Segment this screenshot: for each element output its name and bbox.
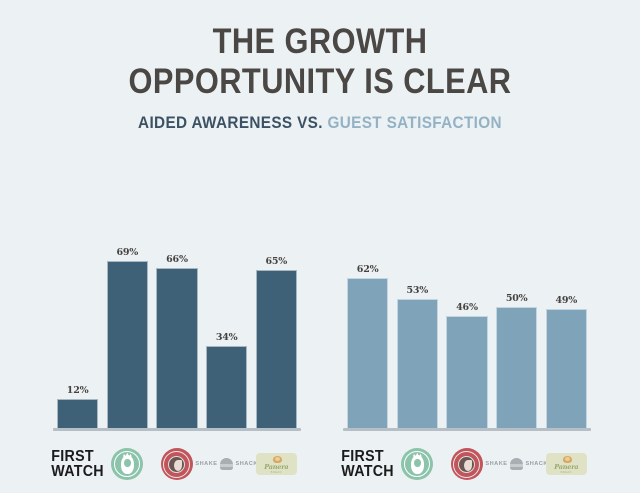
bar-column: 49% (546, 246, 587, 428)
bar[interactable] (107, 261, 148, 428)
burger-icon (220, 458, 233, 471)
bar[interactable] (57, 399, 98, 428)
burger-icon (510, 458, 523, 471)
bar[interactable] (546, 309, 587, 428)
panera-wordmark: Panera (554, 463, 578, 471)
mother-bread-icon (273, 456, 282, 463)
brand-logo-starbucks[interactable] (107, 441, 148, 487)
bar-column: 34% (206, 246, 247, 428)
bar[interactable] (496, 307, 537, 428)
page-title-line2: OPPORTUNITY IS CLEAR (38, 62, 601, 102)
baseline-axis-right (343, 428, 591, 431)
bar-value-label: 49% (546, 295, 587, 306)
shake-shack-word-left: SHAKE (485, 461, 507, 467)
brand-logo-starbucks[interactable] (397, 441, 438, 487)
shake-shack-word-right: SHACK (236, 461, 258, 467)
bar-column: 69% (107, 246, 148, 428)
brand-logo-row-right: FIRSTWATCHSHAKESHACKPaneraBREAD (347, 438, 587, 490)
brand-logo-first-watch[interactable]: FIRSTWATCH (57, 441, 98, 487)
shake-shack-wordmark: SHAKESHACK (485, 458, 547, 471)
panera-sub-wordmark: BREAD (271, 471, 282, 474)
bar-column: 12% (57, 246, 98, 428)
brand-logo-caribou-coffee[interactable] (446, 441, 487, 487)
page-subtitle: AIDED AWARENESS VS. GUEST SATISFACTION (32, 113, 608, 133)
brand-logo-shake-shack[interactable]: SHAKESHACK (206, 441, 247, 487)
shake-shack-word-left: SHAKE (195, 461, 217, 467)
shake-shack-wordmark: SHAKESHACK (195, 458, 257, 471)
brand-logo-shake-shack[interactable]: SHAKESHACK (496, 441, 537, 487)
plot-area-right: 62%53%46%50%49% (347, 228, 587, 428)
brand-logo-panera-bread[interactable]: PaneraBREAD (546, 441, 587, 487)
brand-logo-first-watch[interactable]: FIRSTWATCH (347, 441, 388, 487)
bar-group-left: 12%69%66%34%65% (57, 246, 297, 428)
page-title-line1: THE GROWTH (38, 22, 601, 62)
caribou-coffee-seal-icon (451, 448, 483, 480)
bar-value-label: 46% (446, 302, 487, 313)
bar-value-label: 12% (57, 385, 98, 396)
brand-logo-row-left: FIRSTWATCHSHAKESHACKPaneraBREAD (57, 438, 297, 490)
bar-column: 46% (446, 246, 487, 428)
brand-logo-panera-bread[interactable]: PaneraBREAD (256, 441, 297, 487)
bar[interactable] (256, 270, 297, 428)
caribou-coffee-seal-icon (161, 448, 193, 480)
plot-area-left: 12%69%66%34%65% (57, 228, 297, 428)
bar[interactable] (156, 268, 197, 428)
panera-sub-wordmark: BREAD (561, 471, 572, 474)
mother-bread-icon (563, 456, 572, 463)
bar-value-label: 53% (397, 285, 438, 296)
bar[interactable] (206, 346, 247, 429)
bar-column: 53% (397, 246, 438, 428)
first-watch-wordmark: FIRSTWATCH (341, 449, 394, 479)
starbucks-siren-icon (401, 448, 433, 480)
panera-wordmark: Panera (264, 463, 288, 471)
baseline-axis-left (53, 428, 301, 431)
bar-value-label: 66% (156, 254, 197, 265)
shake-shack-word-right: SHACK (526, 461, 548, 467)
bar-value-label: 69% (107, 247, 148, 258)
bar-column: 50% (496, 246, 537, 428)
bar-value-label: 50% (496, 293, 537, 304)
bar-column: 65% (256, 246, 297, 428)
first-watch-wordmark: FIRSTWATCH (51, 449, 104, 479)
bar[interactable] (347, 278, 388, 428)
panera-bread-badge: PaneraBREAD (546, 453, 587, 475)
bar-value-label: 65% (256, 256, 297, 267)
bar-value-label: 34% (206, 332, 247, 343)
chart-guest-satisfaction: 62%53%46%50%49% FIRSTWATCHSHAKESHACKPane… (347, 228, 587, 438)
brand-logo-caribou-coffee[interactable] (156, 441, 197, 487)
header: THE GROWTH OPPORTUNITY IS CLEAR AIDED AW… (0, 0, 640, 133)
bar[interactable] (446, 316, 487, 428)
starbucks-siren-icon (111, 448, 143, 480)
subtitle-guest-satisfaction: GUEST SATISFACTION (327, 113, 502, 132)
bar[interactable] (397, 299, 438, 428)
subtitle-aided-awareness: AIDED AWARENESS VS. (138, 113, 323, 132)
chart-aided-awareness: 12%69%66%34%65% FIRSTWATCHSHAKESHACKPane… (57, 228, 297, 438)
bar-group-right: 62%53%46%50%49% (347, 246, 587, 428)
panera-bread-badge: PaneraBREAD (256, 453, 297, 475)
bar-column: 62% (347, 246, 388, 428)
bar-column: 66% (156, 246, 197, 428)
bar-value-label: 62% (347, 264, 388, 275)
